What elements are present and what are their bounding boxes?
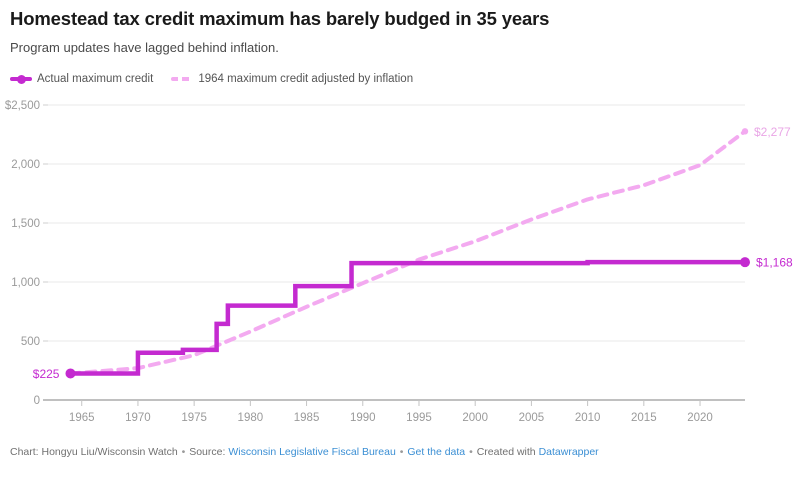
y-axis-tick-label: 1,500 [11, 218, 40, 230]
y-axis-tick-label: $2,500 [5, 100, 40, 112]
footer-separator: • [468, 446, 474, 458]
legend-item-label: Actual maximum credit [37, 73, 153, 86]
series-start-marker [65, 368, 75, 378]
x-axis-ticks [82, 400, 700, 406]
chart-footer: Chart: Hongyu Liu/Wisconsin Watch • Sour… [10, 446, 599, 459]
actual-credit-line[interactable] [70, 262, 745, 373]
x-axis-tick-label: 1965 [69, 412, 95, 424]
x-axis-tick-label: 2020 [687, 412, 713, 424]
series-line-inflation-adjusted[interactable] [70, 131, 745, 373]
x-axis-tick-label: 1990 [350, 412, 376, 424]
x-axis-tick-label: 1995 [406, 412, 432, 424]
legend-item-inflation-adjusted[interactable]: 1964 maximum credit adjusted by inflatio… [171, 71, 413, 87]
y-axis-tick-label: 1,000 [11, 277, 40, 289]
footer-get-data-link[interactable]: Get the data [407, 446, 465, 458]
gridlines [43, 105, 745, 400]
legend-dashed-line-icon [171, 77, 193, 81]
x-axis-tick-label: 1985 [294, 412, 320, 424]
series-value-labels: $225$1,168$2,277 [33, 125, 793, 381]
footer-source-label: Source: [189, 446, 225, 458]
y-axis-tick-label: 0 [34, 395, 40, 407]
page-title: Homestead tax credit maximum has barely … [10, 8, 549, 30]
x-axis-tick-label: 1980 [238, 412, 264, 424]
dashed-trend-line[interactable] [70, 131, 745, 373]
x-axis-tick-label: 1970 [125, 412, 151, 424]
y-axis-tick-label: 500 [21, 336, 40, 348]
x-axis-tick-label: 2010 [575, 412, 601, 424]
footer-separator: • [181, 446, 187, 458]
dashed-series-end-marker [742, 128, 748, 134]
y-axis-labels: 05001,0001,5002,000$2,500 [5, 100, 40, 407]
legend-solid-line-icon [10, 77, 32, 81]
x-axis-tick-label: 2015 [631, 412, 657, 424]
y-axis-tick-label: 2,000 [11, 159, 40, 171]
legend-item-label: 1964 maximum credit adjusted by inflatio… [198, 73, 413, 86]
series-line-actual[interactable] [70, 262, 745, 373]
series-end-marker [740, 257, 750, 267]
x-axis-tick-label: 2000 [462, 412, 488, 424]
series-start-value-label: $225 [33, 367, 60, 381]
chart-legend: Actual maximum credit 1964 maximum credi… [10, 71, 413, 87]
chart-plot-area: 05001,0001,5002,000$2,500 19651970197519… [0, 92, 800, 432]
x-axis-tick-label: 1975 [181, 412, 207, 424]
legend-item-actual[interactable]: Actual maximum credit [10, 71, 153, 87]
line-chart-svg: 05001,0001,5002,000$2,500 19651970197519… [0, 92, 800, 432]
footer-created-label: Created with [477, 446, 536, 458]
x-axis-labels: 1965197019751980198519901995200020052010… [69, 412, 713, 424]
footer-source-link[interactable]: Wisconsin Legislative Fiscal Bureau [228, 446, 396, 458]
series-end-value-label: $1,168 [756, 256, 793, 270]
dashed-series-end-value-label: $2,277 [754, 125, 791, 139]
footer-separator: • [399, 446, 405, 458]
footer-datawrapper-link[interactable]: Datawrapper [539, 446, 599, 458]
footer-credit: Chart: Hongyu Liu/Wisconsin Watch [10, 446, 178, 458]
chart-subtitle: Program updates have lagged behind infla… [10, 40, 279, 56]
chart-card: Homestead tax credit maximum has barely … [0, 0, 800, 482]
x-axis-tick-label: 2005 [519, 412, 545, 424]
